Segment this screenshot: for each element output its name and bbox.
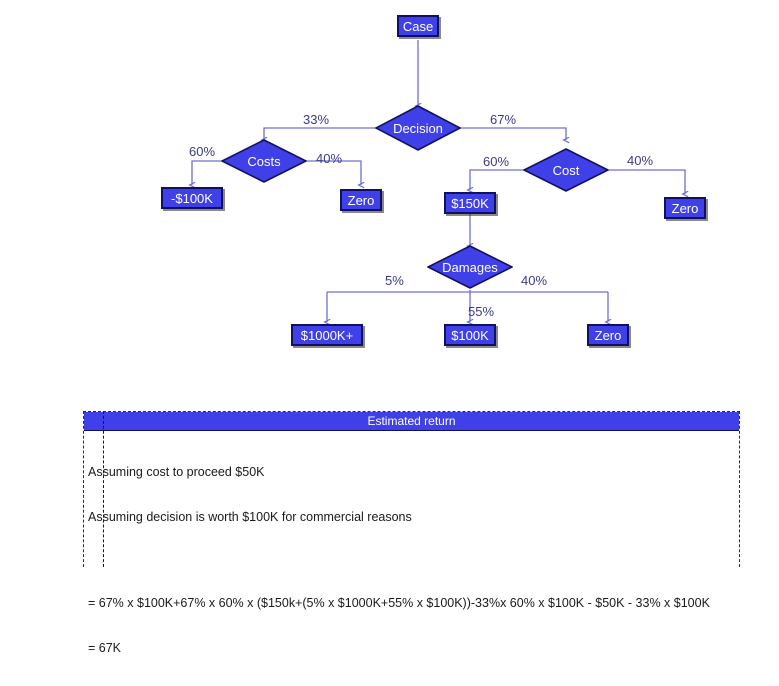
estimated-return-header: Estimated return: [84, 412, 739, 431]
node-costs[interactable]: Costs: [221, 139, 307, 183]
node-100k[interactable]: $100K: [444, 324, 496, 346]
node-damages-label: Damages: [442, 261, 498, 274]
return-line-blank: [88, 555, 739, 566]
edge-label-cost-right: 40%: [627, 154, 653, 167]
node-100k-label: $100K: [451, 329, 489, 342]
node-zero-costs-label: Zero: [348, 194, 375, 207]
edge-label-costs-left: 60%: [189, 145, 215, 158]
node-150k[interactable]: $150K: [444, 192, 496, 214]
node-cost-label: Cost: [553, 164, 580, 177]
return-line-formula: = 67% x $100K+67% x 60% x ($150k+(5% x $…: [88, 596, 739, 611]
edge-label-damages-left: 5%: [385, 274, 404, 287]
edge-label-damages-mid: 55%: [468, 305, 494, 318]
node-case[interactable]: Case: [397, 15, 439, 37]
node-150k-label: $150K: [451, 197, 489, 210]
node-decision-label: Decision: [393, 122, 443, 135]
node-zero-damages-label: Zero: [595, 329, 622, 342]
node-zero-damages[interactable]: Zero: [587, 324, 629, 346]
node-cost[interactable]: Cost: [523, 148, 609, 192]
node-costs-label: Costs: [247, 155, 280, 168]
node-neg-100k-label: -$100K: [171, 192, 213, 205]
node-zero-cost[interactable]: Zero: [664, 197, 706, 219]
return-line: Assuming cost to proceed $50K: [88, 465, 739, 480]
tree-connectors: [0, 0, 779, 400]
edge-label-costs-right: 40%: [316, 152, 342, 165]
edge-label-cost-left: 60%: [483, 155, 509, 168]
edge-label-decision-left: 33%: [303, 113, 329, 126]
node-neg-100k[interactable]: -$100K: [161, 187, 223, 209]
node-1000k-plus-label: $1000K+: [301, 329, 353, 342]
return-line: Assuming decision is worth $100K for com…: [88, 510, 739, 525]
cell-divider-line: [103, 411, 104, 567]
node-zero-cost-label: Zero: [672, 202, 699, 215]
return-line-result: = 67K: [88, 641, 739, 656]
edge-label-damages-right: 40%: [521, 274, 547, 287]
node-decision[interactable]: Decision: [375, 105, 461, 151]
node-zero-costs[interactable]: Zero: [340, 189, 382, 211]
edge-label-decision-right: 67%: [490, 113, 516, 126]
node-damages[interactable]: Damages: [427, 245, 513, 289]
estimated-return-panel: Estimated return Assuming cost to procee…: [83, 411, 740, 567]
node-case-label: Case: [403, 20, 433, 33]
node-1000k-plus[interactable]: $1000K+: [291, 324, 363, 346]
estimated-return-body: Assuming cost to proceed $50K Assuming d…: [84, 431, 739, 686]
